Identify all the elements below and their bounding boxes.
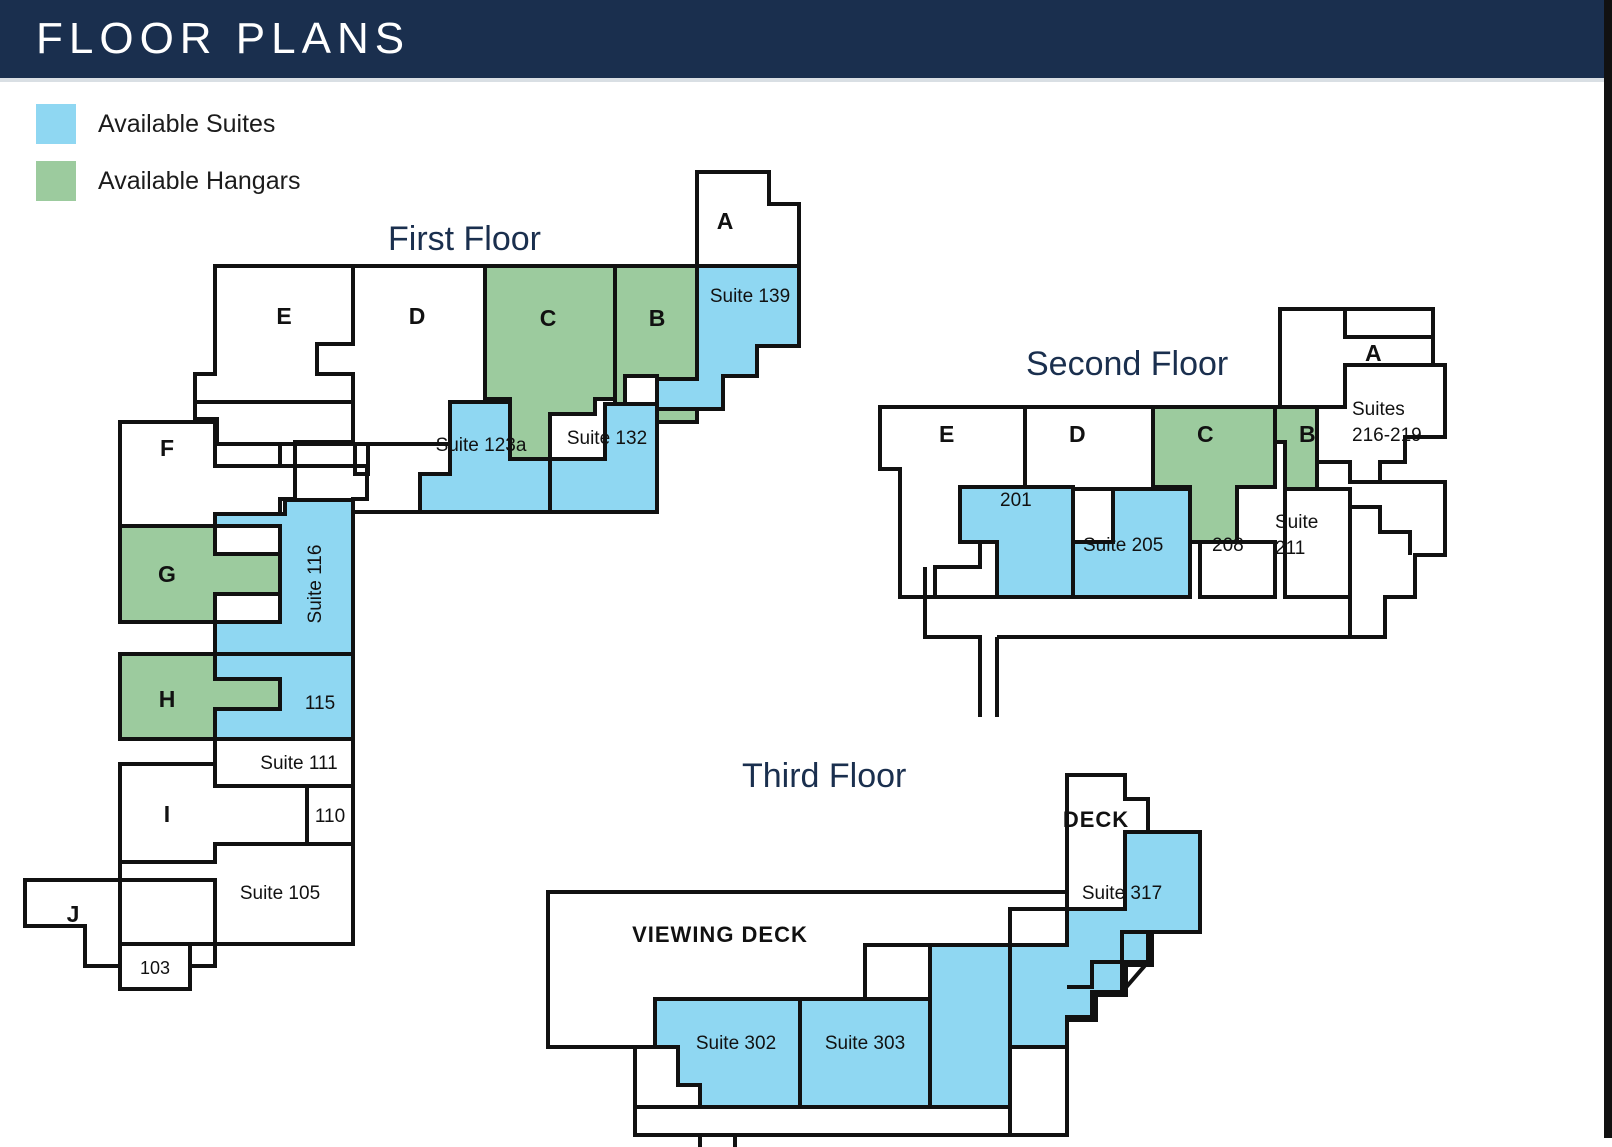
label-first-suite-116: Suite 116 [305,545,326,624]
label-first-suite-103: 103 [140,958,170,978]
label-first-F: F [160,435,174,461]
suites-216-219-line1: Suites [1352,397,1422,423]
label-second-suites-216-219: Suites 216-219 [1352,397,1422,449]
label-first-H: H [159,686,176,712]
label-first-A: A [717,208,734,234]
label-second-suite-211: Suite 211 [1275,510,1318,562]
label-second-B: B [1299,421,1316,448]
first-floor-unit-G[interactable] [120,526,280,622]
third-floor-bottom-left-tail [635,1107,700,1147]
label-third-suite-317: Suite 317 [1082,883,1162,904]
third-floor-connector[interactable] [930,945,1010,1107]
label-first-C: C [540,305,557,331]
third-floor-bottom-right [1010,1047,1067,1135]
label-second-E: E [939,421,954,448]
page-header: FLOOR PLANS [0,0,1604,78]
label-first-suite-110: 110 [315,806,345,827]
label-first-suite-139: Suite 139 [710,286,790,307]
first-floor-corridor-2 [195,402,353,466]
floor-plans-page: FLOOR PLANS Available Suites Available H… [0,0,1612,1138]
label-first-suite-123a: Suite 123a [436,435,527,456]
label-first-suite-115: 115 [305,693,335,714]
third-floor-bottom-hall [700,1135,735,1147]
label-first-I: I [164,801,170,827]
first-floor-unit-E[interactable] [195,266,353,402]
label-first-G: G [158,561,176,587]
first-floor-suite-132[interactable] [550,404,657,512]
label-third-viewing-deck: VIEWING DECK [632,922,808,947]
label-second-suite-208: 208 [1212,535,1244,557]
label-first-B: B [649,305,666,331]
label-first-suite-111: Suite 111 [260,753,337,774]
third-floor-bottom-run [735,1107,1010,1135]
label-first-D: D [409,303,426,329]
suite-211-line1: Suite [1275,510,1318,536]
label-first-suite-105: Suite 105 [240,883,320,904]
label-third-suite-302: Suite 302 [696,1033,776,1054]
label-second-C: C [1197,421,1214,448]
second-floor-right-step [1350,507,1410,555]
label-second-D: D [1069,421,1086,448]
label-third-deck: DECK [1063,807,1129,832]
plans-stage: First Floor [0,82,1604,1138]
label-first-E: E [276,303,291,329]
second-floor-lower-hall [997,597,1350,637]
third-floor-plan: DECK VIEWING DECK Suite 317 Suite 302 Su… [540,687,1220,1147]
second-floor-plan [885,297,1505,727]
suite-211-line2: 211 [1275,536,1318,562]
suites-216-219-line2: 216-219 [1352,423,1422,449]
label-second-suite-205: Suite 205 [1083,535,1163,557]
label-first-J: J [67,901,80,927]
first-floor-unit-A[interactable] [697,172,799,266]
label-second-suite-201: 201 [1000,490,1032,512]
label-first-suite-132: Suite 132 [567,428,647,449]
page-title: FLOOR PLANS [0,14,410,64]
label-third-suite-303: Suite 303 [825,1033,905,1054]
label-second-A: A [1365,340,1382,367]
